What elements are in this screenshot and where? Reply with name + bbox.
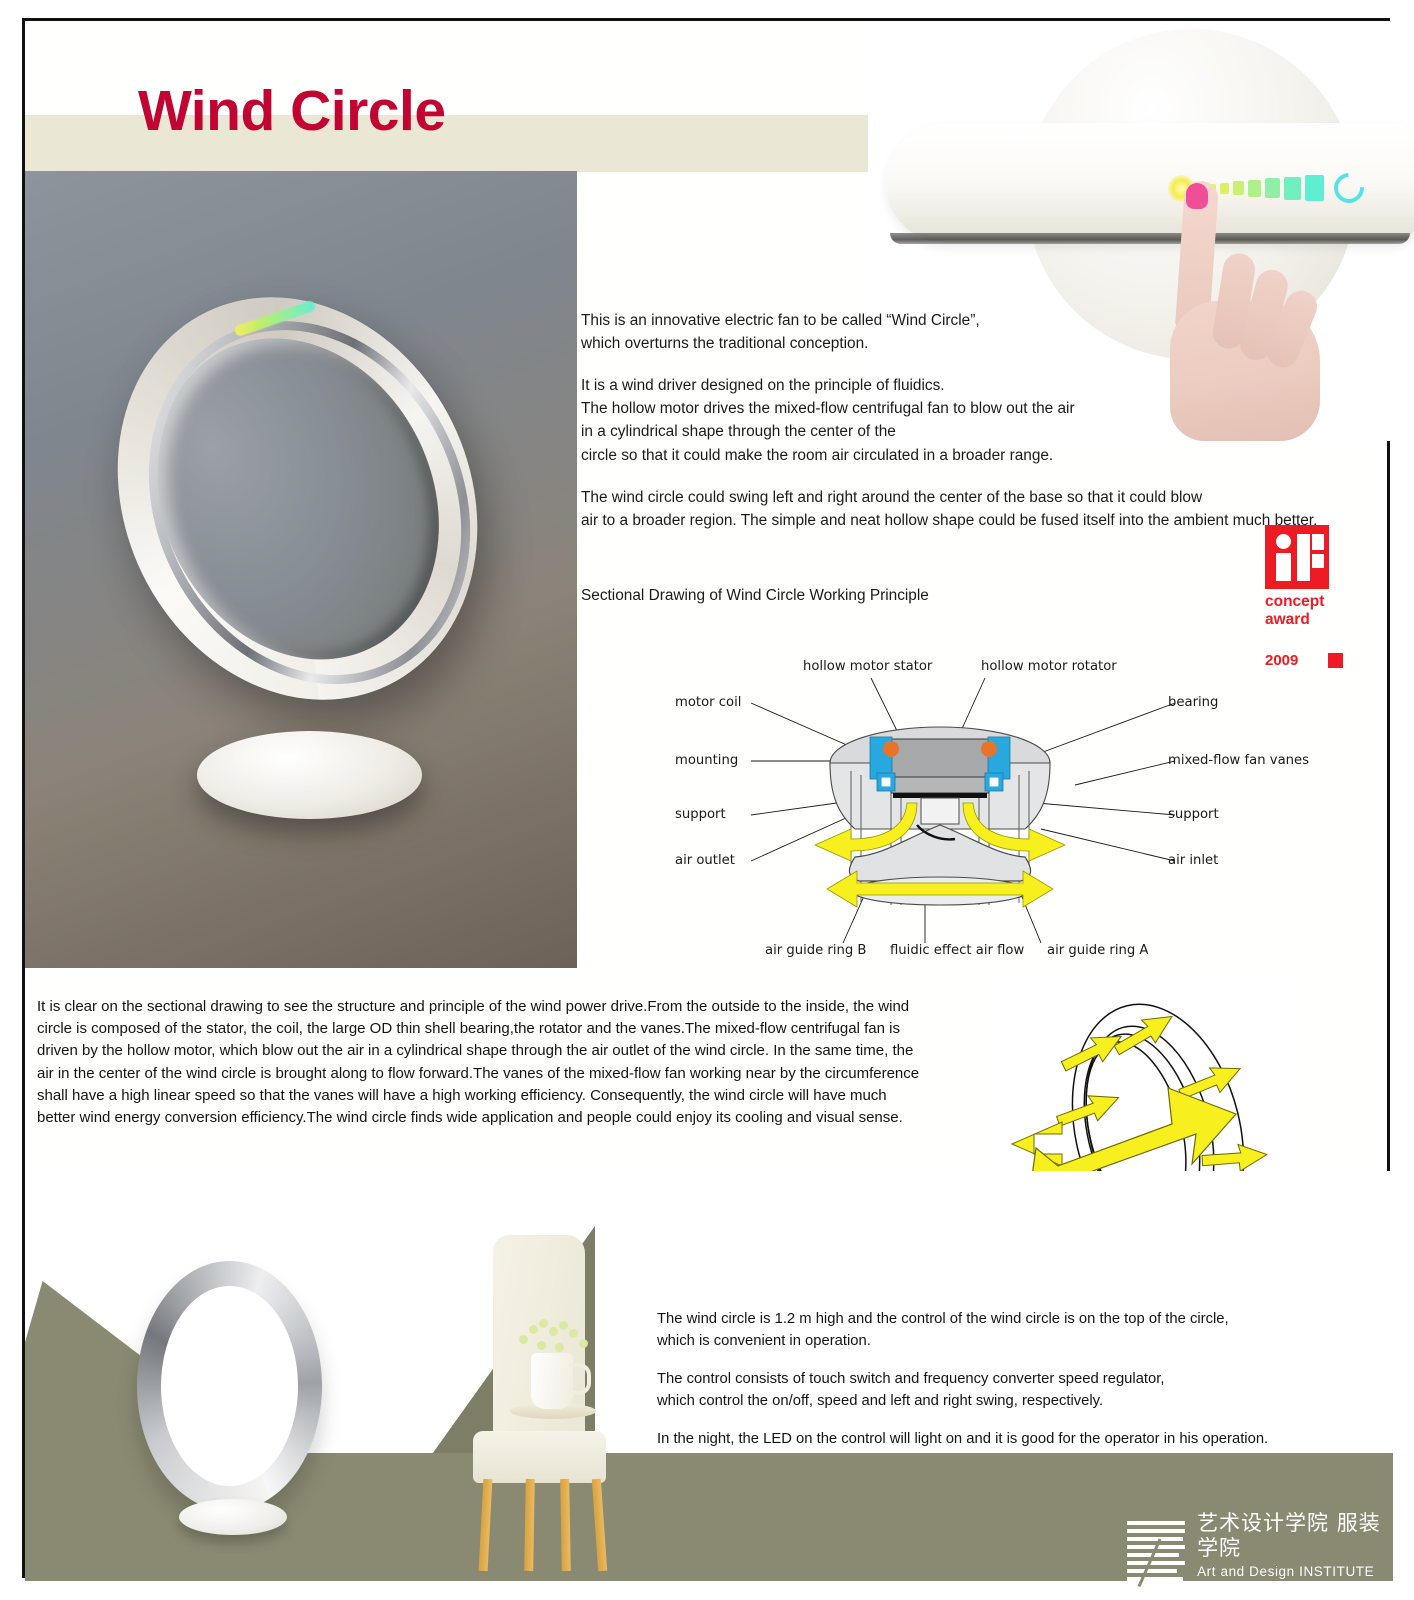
fingernail [1186,183,1208,209]
flower [519,1335,528,1344]
hero-product-photo [25,171,577,968]
flower [529,1325,538,1334]
hero-ring-chrome-band [89,267,530,739]
institute-name-en-2: Apparel INSTITUTE [1197,1579,1387,1595]
if-f-mid-arm [1312,554,1324,568]
label-air-guide-ring-b: air guide ring B [765,943,866,958]
intro-paragraph-1: This is an innovative electric fan to be… [581,309,1401,355]
label-hollow-motor-stator: hollow motor stator [803,659,932,674]
flower-bunch [515,1317,593,1361]
jug-handle [569,1363,591,1395]
intro-paragraph-2: It is a wind driver designed on the prin… [581,374,1401,466]
label-support-right: support [1168,807,1219,822]
chair-seat [473,1431,606,1483]
page-title: Wind Circle [138,83,446,140]
if-caption-line-2: award [1265,611,1401,629]
if-award-caption: concept award [1265,593,1401,630]
institute-text: 艺术设计学院 服装学院 Art and Design INSTITUTE App… [1197,1511,1387,1595]
if-award-year-row: 2009 [1265,652,1401,669]
institute-logo: 艺术设计学院 服装学院 Art and Design INSTITUTE App… [1125,1511,1387,1595]
label-fluidic-effect-air-flow: fluidic effect air flow [890,943,1024,958]
power-swing-icon[interactable] [1328,167,1370,209]
if-caption-line-1: concept [1265,593,1401,611]
scene-ring-outer [137,1261,322,1511]
label-mixed-flow-fan-vanes: mixed-flow fan vanes [1168,753,1309,768]
institute-mark-icon [1125,1517,1185,1595]
intro-text: This is an innovative electric fan to be… [581,309,1401,551]
mark-stripe [1127,1529,1185,1533]
if-logo-icon [1265,525,1329,589]
if-award-year: 2009 [1265,652,1298,669]
scene-ring-base [179,1499,287,1535]
mark-stripe [1127,1537,1183,1541]
label-hollow-motor-rotator: hollow motor rotator [981,659,1117,674]
label-support-left: support [675,807,726,822]
label-bearing: bearing [1168,695,1218,710]
flower [559,1321,568,1330]
chair-leg-4 [592,1479,607,1571]
flower [537,1341,546,1350]
hero-ring-group [85,266,535,786]
if-i-dot [1276,534,1291,549]
poster-frame: Wind Circle [22,18,1390,1578]
mark-stripe [1127,1521,1185,1525]
bottom-paragraph-1: The wind circle is 1.2 m high and the co… [657,1309,1357,1352]
hero-ring-base [197,731,422,819]
institute-name-en-1: Art and Design INSTITUTE [1197,1564,1387,1580]
section-drawing-svg [655,643,1215,968]
flower [539,1319,548,1328]
label-air-guide-ring-a: air guide ring A [1047,943,1148,958]
chair-leg-2 [524,1479,535,1571]
section-drawing: hollow motor stator hollow motor rotator… [655,643,1215,968]
bottom-paragraphs: The wind circle is 1.2 m high and the co… [657,1309,1357,1468]
chair-leg-1 [479,1479,493,1571]
if-concept-award-badge: concept award 2009 [1265,525,1401,669]
if-i-stem [1276,553,1291,581]
flower-jug [531,1353,573,1409]
mid-paragraph: It is clear on the sectional drawing to … [37,996,922,1129]
scene-ring-aperture [161,1286,298,1486]
bottom-paragraph-3: In the night, the LED on the control wil… [657,1429,1357,1451]
poster-root: Wind Circle [0,0,1414,1600]
flower [569,1329,578,1338]
chair-leg-3 [560,1479,571,1571]
flower [579,1339,588,1348]
institute-name-cn: 艺术设计学院 服装学院 [1197,1511,1387,1561]
label-mounting: mounting [675,753,738,768]
flower [555,1343,564,1352]
label-motor-coil: motor coil [675,695,741,710]
scene-ring-fan [137,1261,337,1561]
if-red-square-icon [1328,653,1343,668]
label-air-inlet: air inlet [1168,853,1218,868]
if-f-vertical [1297,534,1310,581]
flower [549,1327,558,1336]
if-f-top-arm [1312,534,1324,550]
section-drawing-title: Sectional Drawing of Wind Circle Working… [581,587,929,605]
scene-chair [465,1235,650,1565]
bottom-paragraph-2: The control consists of touch switch and… [657,1369,1357,1412]
label-air-outlet: air outlet [675,853,735,868]
